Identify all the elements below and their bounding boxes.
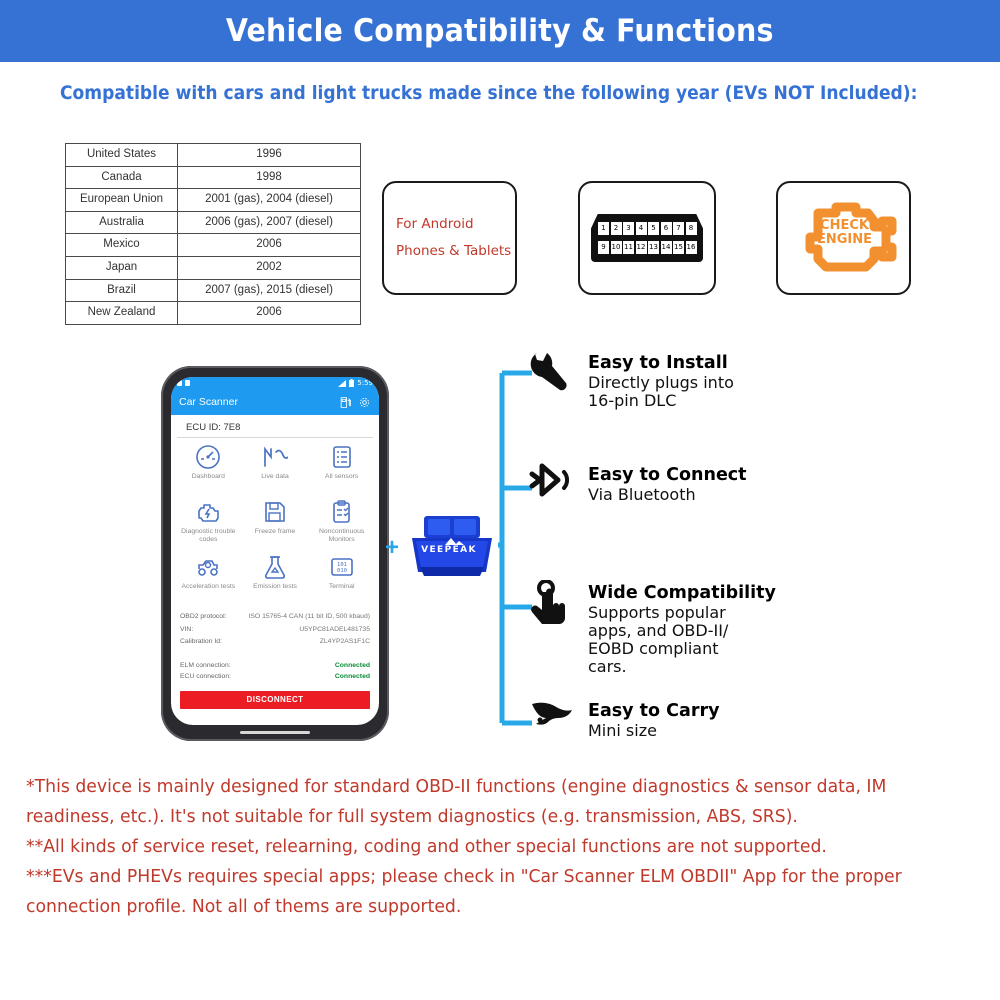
feature-desc-1: Via Bluetooth xyxy=(588,486,747,504)
status-bar-indicators: 5:59 xyxy=(338,379,373,387)
vehicle-info-row: Calibration Id:ZL4YP2AS1F1C xyxy=(180,636,370,649)
obd-pin: 3 xyxy=(623,222,634,235)
disclaimer-line: ***EVs and PHEVs requires special apps; … xyxy=(26,862,964,922)
feature-text-0: Easy to Install Directly plugs into 16-p… xyxy=(588,350,734,410)
region-cell: United States xyxy=(66,144,178,167)
year-cell: 1996 xyxy=(178,144,361,167)
disclaimer-notes: *This device is mainly designed for stan… xyxy=(26,772,978,922)
app-grid-label: Acceleration tests xyxy=(182,583,236,591)
obd-pin: 10 xyxy=(611,241,622,254)
year-cell: 2006 (gas), 2007 (diesel) xyxy=(178,211,361,234)
year-cell: 2007 (gas), 2015 (diesel) xyxy=(178,279,361,302)
obd-pin: 12 xyxy=(636,241,647,254)
connection-row: ECU connection:Connected xyxy=(180,671,370,683)
app-grid-item[interactable]: 101010Terminal xyxy=(308,554,375,607)
feature-text-1: Easy to Connect Via Bluetooth xyxy=(588,462,747,504)
year-cell: 1998 xyxy=(178,166,361,189)
check-engine-line2: ENGINE xyxy=(814,233,876,247)
region-cell: New Zealand xyxy=(66,302,178,325)
all-sensors-list-icon xyxy=(329,444,355,470)
plus-symbol: + xyxy=(385,536,399,560)
obd-pin: 16 xyxy=(686,241,697,254)
app-grid-item[interactable]: Dashboard xyxy=(175,444,242,497)
obd-pin: 15 xyxy=(673,241,684,254)
feature-text-2: Wide Compatibility Supports popular apps… xyxy=(588,580,776,676)
info-value: U5YPC81ADEL481735 xyxy=(299,624,370,637)
battery-icon xyxy=(349,379,354,387)
android-compatibility-box: For Android Phones & Tablets xyxy=(382,181,517,295)
bluetooth-icon xyxy=(528,462,578,506)
obd-pin-row-top: 12345678 xyxy=(598,222,697,235)
app-grid-label: Emission tests xyxy=(253,583,297,591)
android-box-text: For Android Phones & Tablets xyxy=(384,211,515,265)
feature-text-3: Easy to Carry Mini size xyxy=(588,698,719,740)
app-title: Car Scanner xyxy=(179,396,333,408)
feature-desc-3: Mini size xyxy=(588,722,719,740)
feature-title-3: Easy to Carry xyxy=(588,702,719,721)
gear-icon[interactable] xyxy=(358,396,371,409)
page-header-banner: Vehicle Compatibility & Functions xyxy=(0,0,1000,62)
live-data-wave-icon xyxy=(262,444,288,470)
pinch-hand-icon xyxy=(528,698,578,742)
app-grid-item[interactable]: Diagnostic trouble codes xyxy=(175,499,242,552)
app-grid-label: Noncontinuous Monitors xyxy=(311,528,373,545)
app-grid-label: Diagnostic trouble codes xyxy=(177,528,239,545)
year-cell: 2006 xyxy=(178,234,361,257)
phone-mockup: 5:59 Car Scanner ECU ID: 7E8 DashboardLi… xyxy=(161,366,389,741)
obd-pin: 13 xyxy=(648,241,659,254)
table-row: Japan2002 xyxy=(66,256,361,279)
status-bar-time: 5:59 xyxy=(357,379,373,387)
ecu-id-label: ECU ID: 7E8 xyxy=(177,415,373,438)
flask-icon xyxy=(262,554,288,580)
table-row: New Zealand2006 xyxy=(66,302,361,325)
info-label: OBD2 protocol: xyxy=(180,611,226,624)
feature-desc-2: Supports popular apps, and OBD-II/ EOBD … xyxy=(588,604,776,676)
info-label: Calibration Id: xyxy=(180,636,222,649)
compatibility-table: United States1996Canada1998European Unio… xyxy=(65,143,361,325)
feature-easy-to-connect: Easy to Connect Via Bluetooth xyxy=(528,462,747,506)
status-bar-notifications xyxy=(177,380,190,386)
feature-title-1: Easy to Connect xyxy=(588,466,747,485)
obd-pin: 1 xyxy=(598,222,609,235)
home-indicator xyxy=(240,731,310,734)
connection-label: ECU connection: xyxy=(180,671,231,683)
android-box-line2: Phones & Tablets xyxy=(396,238,515,265)
disclaimer-line: **All kinds of service reset, relearning… xyxy=(26,832,964,862)
obd-connector-box: 12345678 910111213141516 xyxy=(578,181,716,295)
app-grid-label: Freeze frame xyxy=(255,528,295,536)
obd-pin: 11 xyxy=(623,241,634,254)
year-cell: 2002 xyxy=(178,256,361,279)
feature-bracket xyxy=(498,355,544,740)
car-speed-icon xyxy=(195,554,221,580)
obd2-connector-icon: 12345678 910111213141516 xyxy=(591,214,703,262)
app-grid-item[interactable]: All sensors xyxy=(308,444,375,497)
table-row: European Union2001 (gas), 2004 (diesel) xyxy=(66,189,361,212)
region-cell: Canada xyxy=(66,166,178,189)
obd-pin: 8 xyxy=(686,222,697,235)
dongle-brand-label: VEEPEAK xyxy=(414,545,484,555)
app-grid-item[interactable]: Live data xyxy=(242,444,309,497)
obd-pin: 14 xyxy=(661,241,672,254)
app-grid-label: Terminal xyxy=(329,583,355,591)
notification-icon-2 xyxy=(185,380,190,386)
region-cell: European Union xyxy=(66,189,178,212)
obd-pin: 5 xyxy=(648,222,659,235)
connection-row: ELM connection:Connected xyxy=(180,660,370,672)
svg-text:010: 010 xyxy=(337,568,347,574)
clipboard-check-icon xyxy=(329,499,355,525)
info-value: ISO 15765-4 CAN (11 bit ID, 500 kbaud) xyxy=(248,611,370,624)
vehicle-info-row: OBD2 protocol:ISO 15765-4 CAN (11 bit ID… xyxy=(180,611,370,624)
year-cell: 2001 (gas), 2004 (diesel) xyxy=(178,189,361,212)
phone-status-bar: 5:59 xyxy=(171,377,379,389)
compatibility-subtitle: Compatible with cars and light trucks ma… xyxy=(60,82,917,104)
fuel-pump-icon[interactable] xyxy=(339,396,352,409)
table-row: Australia2006 (gas), 2007 (diesel) xyxy=(66,211,361,234)
app-grid-item[interactable]: Emission tests xyxy=(242,554,309,607)
feature-easy-to-carry: Easy to Carry Mini size xyxy=(528,698,719,742)
obd-dongle: VEEPEAK xyxy=(404,512,500,584)
year-cell: 2006 xyxy=(178,302,361,325)
check-engine-line1: CHECK xyxy=(814,219,876,233)
connection-label: ELM connection: xyxy=(180,660,231,672)
obd-pin-row-bottom: 910111213141516 xyxy=(598,241,697,254)
disclaimer-line: *This device is mainly designed for stan… xyxy=(26,772,964,832)
connection-status-badge: Connected xyxy=(335,660,370,672)
app-bar: Car Scanner xyxy=(171,389,379,415)
connection-status-badge: Connected xyxy=(335,671,370,683)
check-engine-label: CHECK ENGINE xyxy=(814,219,876,248)
app-function-grid: DashboardLive dataAll sensorsDiagnostic … xyxy=(171,438,379,607)
obd-pin: 9 xyxy=(598,241,609,254)
table-row: United States1996 xyxy=(66,144,361,167)
table-row: Brazil2007 (gas), 2015 (diesel) xyxy=(66,279,361,302)
region-cell: Mexico xyxy=(66,234,178,257)
vehicle-info-list: OBD2 protocol:ISO 15765-4 CAN (11 bit ID… xyxy=(171,607,379,649)
floppy-disk-icon xyxy=(262,499,288,525)
check-engine-bolt-icon xyxy=(195,499,221,525)
info-value: ZL4YP2AS1F1C xyxy=(320,636,370,649)
obd-pin: 2 xyxy=(611,222,622,235)
notification-icon xyxy=(177,380,182,386)
app-grid-item[interactable]: Noncontinuous Monitors xyxy=(308,499,375,552)
compatibility-table-body: United States1996Canada1998European Unio… xyxy=(66,144,361,325)
feature-desc-0: Directly plugs into 16-pin DLC xyxy=(588,374,734,410)
region-cell: Australia xyxy=(66,211,178,234)
obd-pin: 7 xyxy=(673,222,684,235)
region-cell: Brazil xyxy=(66,279,178,302)
tap-hand-icon xyxy=(528,580,578,624)
binary-terminal-icon: 101010 xyxy=(329,554,355,580)
disconnect-button[interactable]: DISCONNECT xyxy=(180,691,370,709)
app-grid-item[interactable]: Freeze frame xyxy=(242,499,309,552)
signal-icon xyxy=(338,380,346,387)
feature-easy-to-install: Easy to Install Directly plugs into 16-p… xyxy=(528,350,734,410)
app-grid-label: Dashboard xyxy=(192,473,225,481)
app-grid-label: Live data xyxy=(261,473,289,481)
android-box-line1: For Android xyxy=(396,211,515,238)
vehicle-info-row: VIN:U5YPC81ADEL481735 xyxy=(180,624,370,637)
check-engine-icon: CHECK ENGINE xyxy=(788,199,900,277)
feature-title-0: Easy to Install xyxy=(588,354,734,373)
region-cell: Japan xyxy=(66,256,178,279)
app-grid-label: All sensors xyxy=(325,473,358,481)
page-title: Vehicle Compatibility & Functions xyxy=(226,13,774,49)
connection-status-list: ELM connection:ConnectedECU connection:C… xyxy=(171,649,379,683)
table-row: Canada1998 xyxy=(66,166,361,189)
feature-wide-compatibility: Wide Compatibility Supports popular apps… xyxy=(528,580,776,676)
phone-screen: 5:59 Car Scanner ECU ID: 7E8 DashboardLi… xyxy=(171,377,379,725)
obd-pin: 6 xyxy=(661,222,672,235)
table-row: Mexico2006 xyxy=(66,234,361,257)
dashboard-gauge-icon xyxy=(195,444,221,470)
info-label: VIN: xyxy=(180,624,193,637)
app-grid-item[interactable]: Acceleration tests xyxy=(175,554,242,607)
obd-pin: 4 xyxy=(636,222,647,235)
wrench-icon xyxy=(528,350,578,394)
check-engine-box: CHECK ENGINE xyxy=(776,181,911,295)
feature-title-2: Wide Compatibility xyxy=(588,584,776,603)
